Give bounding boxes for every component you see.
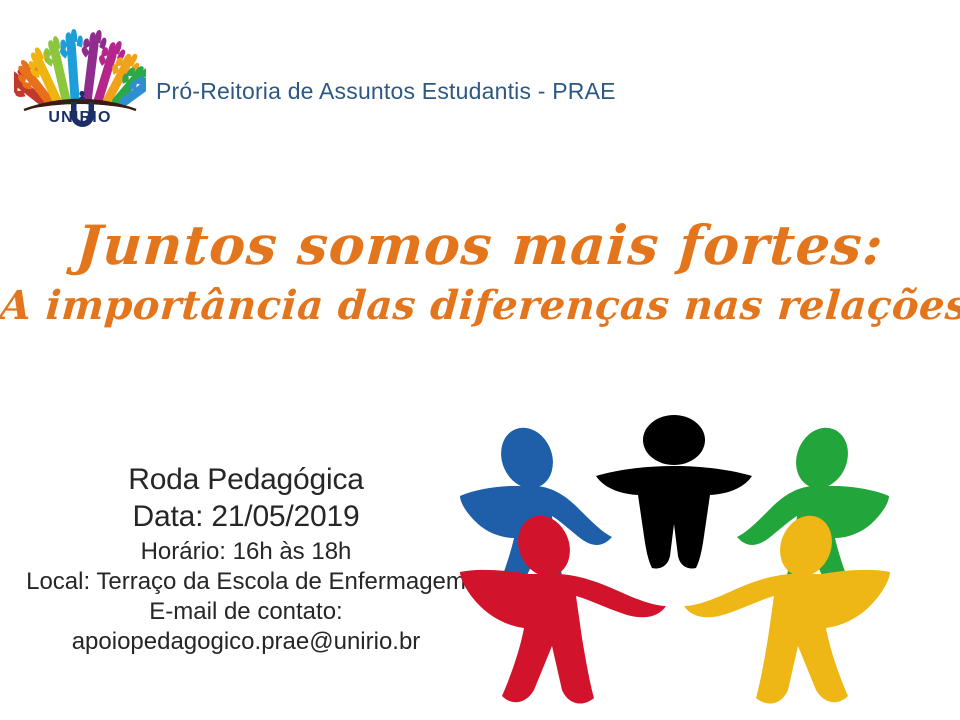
unirio-logo: UNIRIO bbox=[14, 14, 146, 132]
figure-black bbox=[596, 415, 752, 569]
event-location: Local: Terraço da Escola de Enfermagem bbox=[6, 568, 486, 596]
figure-yellow bbox=[684, 508, 890, 704]
event-name: Roda Pedagógica bbox=[6, 462, 486, 497]
unirio-wordmark: UNIRIO bbox=[14, 109, 146, 127]
contact-email-address[interactable]: apoiopedagogico.prae@unirio.br bbox=[6, 628, 486, 656]
event-date: Data: 21/05/2019 bbox=[6, 499, 486, 534]
header-title: Pró-Reitoria de Assuntos Estudantis - PR… bbox=[156, 78, 616, 105]
contact-email-label: E-mail de contato: bbox=[6, 598, 486, 626]
event-time: Horário: 16h às 18h bbox=[6, 538, 486, 566]
poster-canvas: UNIRIO Pró-Reitoria de Assuntos Estudant… bbox=[0, 0, 960, 720]
headline-line-1: Juntos somos mais fortes: bbox=[0, 218, 960, 272]
poster-header: UNIRIO Pró-Reitoria de Assuntos Estudant… bbox=[0, 0, 960, 145]
circle-of-people-illustration bbox=[452, 398, 952, 720]
event-details-block: Roda Pedagógica Data: 21/05/2019 Horário… bbox=[6, 462, 486, 656]
headline-block: Juntos somos mais fortes: A importância … bbox=[0, 218, 960, 326]
headline-line-2: A importância das diferenças nas relaçõe… bbox=[0, 286, 960, 326]
figure-red bbox=[460, 508, 666, 704]
